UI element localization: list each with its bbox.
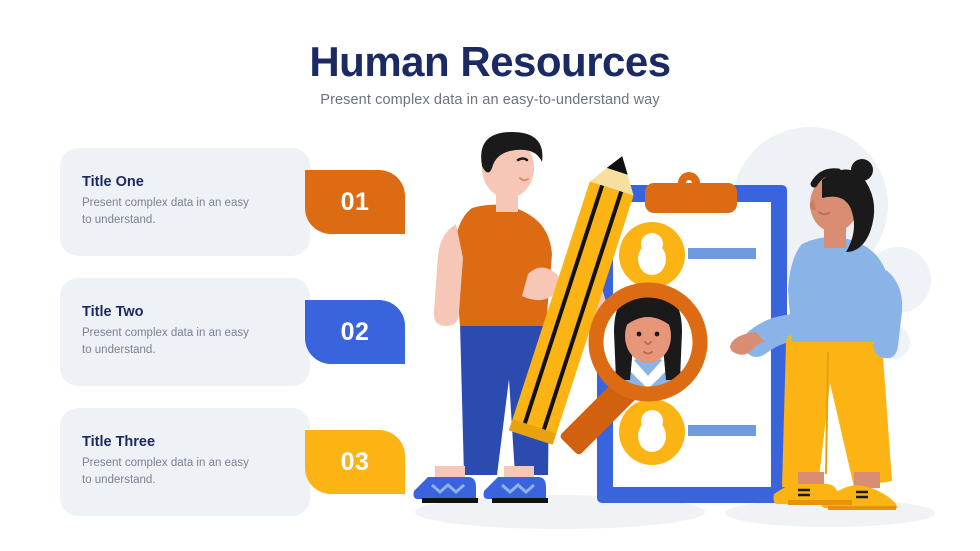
card-title: Title One: [82, 174, 252, 190]
cards-list: Title One Present complex data in an eas…: [60, 148, 370, 538]
page-title: Human Resources: [0, 40, 980, 84]
list-item[interactable]: Title Three Present complex data in an e…: [60, 408, 310, 516]
card-description: Present complex data in an easy to under…: [82, 455, 252, 488]
card-text: Title Three Present complex data in an e…: [82, 434, 252, 488]
list-item[interactable]: Title One Present complex data in an eas…: [60, 148, 310, 256]
card-description: Present complex data in an easy to under…: [82, 325, 252, 358]
card-text: Title One Present complex data in an eas…: [82, 174, 252, 228]
card-description: Present complex data in an easy to under…: [82, 195, 252, 228]
header: Human Resources Present complex data in …: [0, 40, 980, 108]
card-number-badge: 01: [305, 170, 405, 234]
card-text: Title Two Present complex data in an eas…: [82, 304, 252, 358]
card-number-badge: 03: [305, 430, 405, 494]
hr-search-illustration: [400, 120, 980, 530]
card-title: Title Three: [82, 434, 252, 450]
card-number-badge: 02: [305, 300, 405, 364]
page-subtitle: Present complex data in an easy-to-under…: [0, 92, 980, 108]
card-title: Title Two: [82, 304, 252, 320]
list-item[interactable]: Title Two Present complex data in an eas…: [60, 278, 310, 386]
slide-root: Human Resources Present complex data in …: [0, 0, 980, 551]
